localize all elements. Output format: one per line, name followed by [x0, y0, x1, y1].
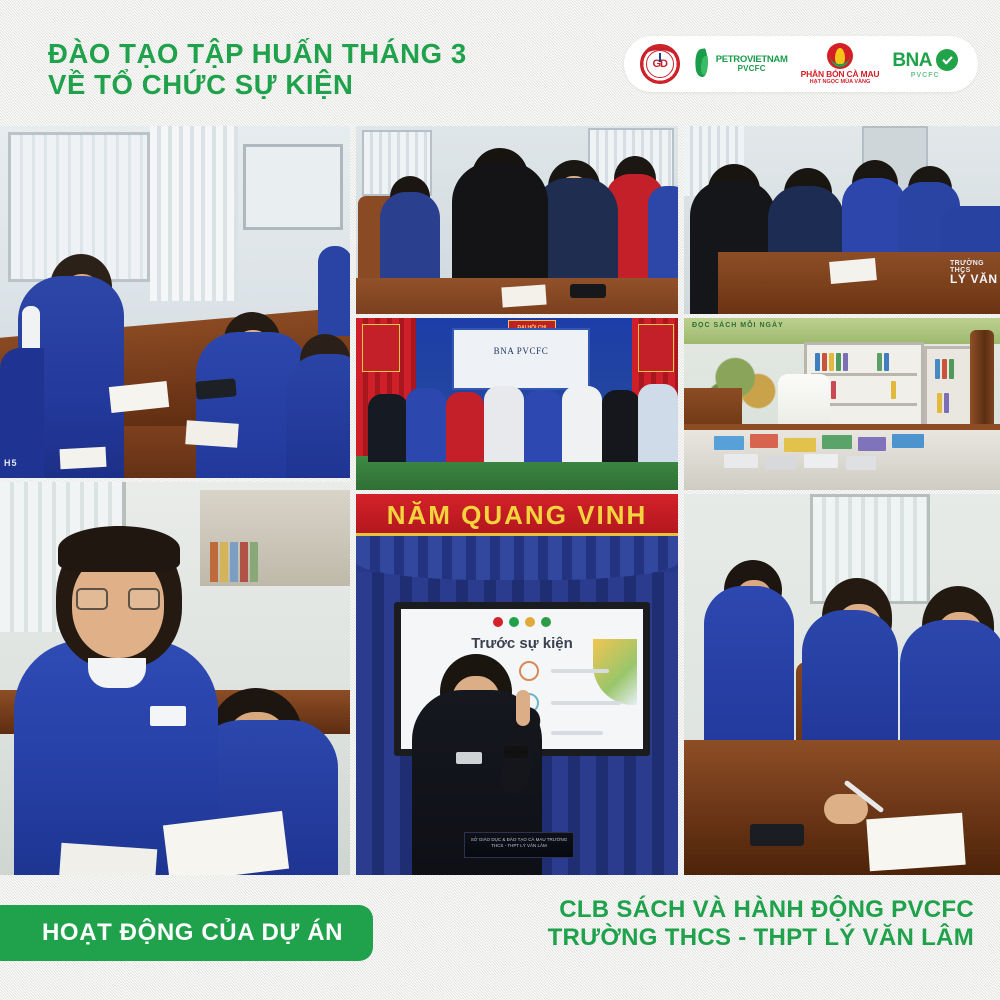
logo-strip: GD PETROVIETNAM PVCFC PHÂN BÓN CÀ MAU HẠ… — [624, 36, 978, 92]
uniform-school-line2: LÝ VĂN — [950, 272, 998, 286]
photo-presenter-slide: NĂM QUANG VINH Trước sự kiện SỞ GIÁ — [356, 494, 678, 875]
title-line-2: VỀ TỔ CHỨC SỰ KIỆN — [48, 69, 467, 100]
bna-sub: PVCFC — [911, 72, 940, 79]
photo-library-display: ĐỌC SÁCH MỖI NGÀY — [684, 318, 1000, 490]
petrovietnam-label: PETROVIETNAM — [716, 55, 788, 65]
petrovietnam-logo: PETROVIETNAM PVCFC — [693, 49, 788, 79]
photo-girl-presenting — [0, 482, 350, 875]
org-line-2: TRƯỜNG THCS - THPT LÝ VĂN LÂM — [548, 924, 974, 952]
petrovietnam-sub: PVCFC — [716, 65, 788, 73]
check-circle-icon — [936, 49, 958, 71]
organization-block: CLB SÁCH VÀ HÀNH ĐỘNG PVCFC TRƯỜNG THCS … — [548, 896, 974, 952]
photo-classroom-desks: H5 — [0, 126, 350, 478]
photo-group-stage: ĐẠI HỘI CHI ĐOÀN BNA PVCFC — [356, 318, 678, 490]
projector-screen-text: BNA PVCFC — [454, 346, 588, 356]
phan-bon-ca-mau-label: PHÂN BÓN CÀ MAU — [801, 70, 880, 79]
project-activity-badge: HOẠT ĐỘNG CỦA DỰ ÁN — [0, 905, 373, 961]
rice-sun-icon — [827, 43, 853, 69]
page-title: ĐÀO TẠO TẬP HUẤN THÁNG 3 VỀ TỔ CHỨC SỰ K… — [48, 38, 467, 100]
photo-students-discussion — [356, 126, 678, 314]
bna-label: BNA — [892, 51, 932, 70]
podium-text: SỞ GIÁO DỤC & ĐÀO TẠO CÀ MAU TRƯỜNG THCS… — [465, 837, 573, 849]
org-line-1: CLB SÁCH VÀ HÀNH ĐỘNG PVCFC — [548, 896, 974, 924]
bna-logo: BNA PVCFC — [892, 49, 958, 79]
moet-seal-icon: GD — [640, 44, 680, 84]
photo-students-notes: TRƯỜNG THCS LÝ VĂN — [684, 126, 1000, 314]
photo-collage: H5 TRƯỜNG THCS LÝ VĂN ĐẠI HỘI CHI ĐOÀN — [0, 126, 1000, 875]
page-footer: HOẠT ĐỘNG CỦA DỰ ÁN CLB SÁCH VÀ HÀNH ĐỘN… — [0, 875, 1000, 1000]
title-line-1: ĐÀO TẠO TẬP HUẤN THÁNG 3 — [48, 38, 467, 69]
phan-bon-ca-mau-logo: PHÂN BÓN CÀ MAU HẠT NGỌC MÙA VÀNG — [801, 43, 880, 85]
stage-banner-text: NĂM QUANG VINH — [356, 500, 678, 531]
phan-bon-ca-mau-sub: HẠT NGỌC MÙA VÀNG — [801, 80, 880, 86]
page-header: ĐÀO TẠO TẬP HUẤN THÁNG 3 VỀ TỔ CHỨC SỰ K… — [0, 0, 1000, 126]
photo-students-writing: H62 H57 H6 — [684, 494, 1000, 875]
photo-overlay-text: H5 — [4, 458, 18, 468]
project-activity-label: HOẠT ĐỘNG CỦA DỰ ÁN — [42, 919, 343, 946]
library-beam-text: ĐỌC SÁCH MỖI NGÀY — [692, 322, 784, 329]
flame-icon — [693, 49, 711, 79]
